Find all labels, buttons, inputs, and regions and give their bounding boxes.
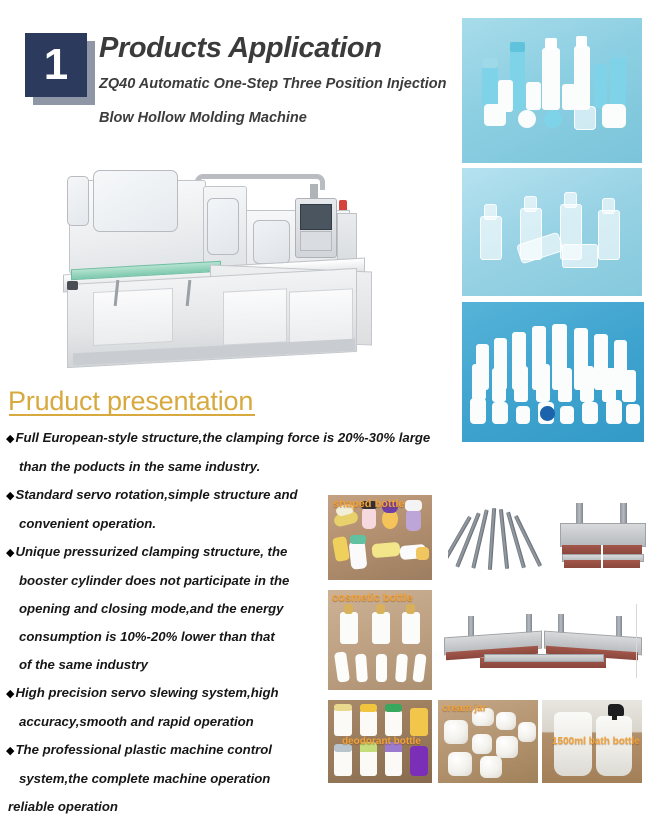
- feature-text: accuracy,smooth and rapid operation: [19, 714, 254, 729]
- feature-text: The professional plastic machine control: [15, 742, 271, 757]
- step-badge-number: 1: [25, 33, 87, 97]
- machine-photo: [55, 158, 445, 373]
- diamond-bullet-icon: ◆: [6, 745, 14, 757]
- diamond-bullet-icon: ◆: [6, 688, 14, 700]
- product-application-page: 1 Products Application ZQ40 Automatic On…: [0, 0, 650, 815]
- page-title: Products Application: [99, 32, 382, 65]
- diamond-bullet-icon: ◆: [6, 433, 14, 445]
- list-item: ◆Standard servo rotation,simple structur…: [6, 481, 336, 538]
- feature-text: Standard servo rotation,simple structure…: [15, 487, 297, 502]
- section-heading-underline: [9, 414, 255, 416]
- gallery-label-deodorant-bottle: deodorant bottle: [342, 736, 421, 747]
- page-subtitle-line-2: Blow Hollow Molding Machine: [99, 110, 307, 126]
- list-item: ◆Full European-style structure,the clamp…: [6, 424, 336, 481]
- list-item: ◆Unique pressurized clamping structure, …: [6, 538, 336, 679]
- machine-base-door-1: [93, 288, 173, 346]
- diamond-bullet-icon: ◆: [6, 547, 14, 559]
- machine-hood-window: [93, 170, 178, 232]
- machine-base-door-3: [289, 288, 353, 345]
- feature-text: opening and closing mode,and the energy: [19, 601, 284, 616]
- gallery-item-cream-jar: cream jar: [438, 700, 538, 783]
- gallery-item-deodorant-bottle: deodorant bottle: [328, 700, 432, 783]
- gallery-item-mold-core-pins: [448, 495, 548, 580]
- feature-text: system,the complete machine operation: [19, 771, 270, 786]
- list-item: ◆The professional plastic machine contro…: [6, 736, 336, 821]
- feature-list: ◆Full European-style structure,the clamp…: [6, 424, 336, 821]
- step-badge: 1: [25, 33, 95, 105]
- feature-text: of the same industry: [19, 657, 148, 672]
- machine-warning-light: [339, 200, 347, 210]
- machine-rear-window: [253, 220, 290, 264]
- gallery-item-cosmetic-bottle: cosmetic bottle: [328, 590, 432, 690]
- machine-hood-side-window: [67, 176, 89, 226]
- machine-base-door-2: [223, 288, 287, 345]
- photo-white-hdpe-bottle-range: [462, 302, 644, 442]
- gallery-label-cream-jar: cream jar: [442, 703, 486, 714]
- feature-text: consumption is 10%-20% lower than that: [19, 629, 275, 644]
- feature-text: Full European-style structure,the clampi…: [15, 430, 430, 445]
- section-heading: Pruduct presentation: [8, 386, 253, 417]
- feature-text: convenient operation.: [19, 516, 156, 531]
- gallery-item-shaped-bottle: shaped bottle: [328, 495, 432, 580]
- feature-text: Unique pressurized clamping structure, t…: [15, 544, 287, 559]
- gallery-item-mold-block: [556, 495, 648, 580]
- machine-power-switch: [67, 281, 78, 290]
- feature-text: High precision servo slewing system,high: [15, 685, 278, 700]
- gallery-label-shaped-bottle: shaped bottle: [333, 498, 405, 510]
- photo-clear-pet-preform-bottles: [462, 168, 642, 296]
- diamond-bullet-icon: ◆: [6, 490, 14, 502]
- gallery-label-bath-bottle: 1500ml bath bottle: [552, 736, 640, 747]
- page-subtitle-line-1: ZQ40 Automatic One-Step Three Position I…: [99, 76, 447, 92]
- gallery-item-bath-bottle: 1500ml bath bottle: [542, 700, 642, 783]
- feature-text: reliable operation: [8, 799, 118, 814]
- machine-hmi-screen: [300, 204, 332, 230]
- gallery-item-mold-plate-pair: [440, 612, 645, 684]
- machine-keypad: [300, 231, 332, 251]
- feature-text: than the poducts in the same industry.: [19, 459, 260, 474]
- feature-text: booster cylinder does not participate in…: [19, 573, 289, 588]
- photo-blue-and-white-plastic-bottles: [462, 18, 642, 163]
- machine-hood-side-panel-window: [207, 198, 239, 255]
- list-item: ◆High precision servo slewing system,hig…: [6, 679, 336, 736]
- gallery-divider: [636, 604, 637, 678]
- gallery-label-cosmetic-bottle: cosmetic bottle: [332, 592, 413, 604]
